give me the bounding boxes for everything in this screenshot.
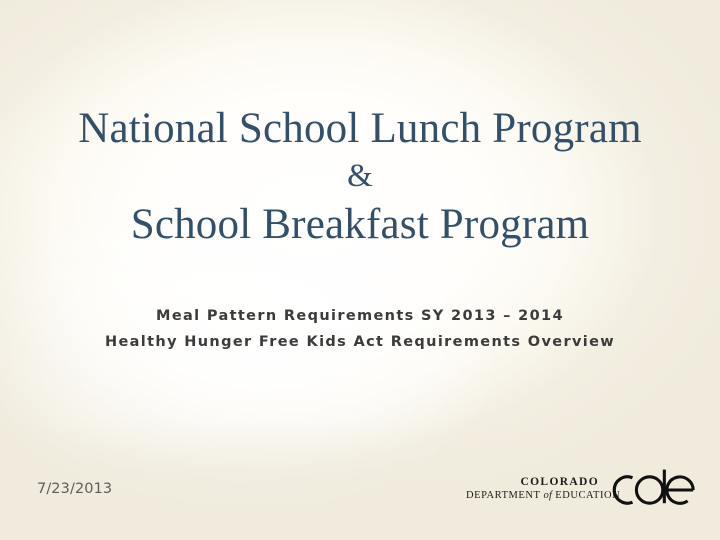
slide-content: National School Lunch Program & School B… bbox=[0, 0, 720, 540]
logo-department-prefix: DEPARTMENT bbox=[466, 490, 540, 501]
subtitle-line-2: Healthy Hunger Free Kids Act Requirement… bbox=[60, 329, 660, 355]
cde-monogram-icon bbox=[605, 468, 695, 512]
title-line-1: National School Lunch Program bbox=[0, 103, 720, 154]
slide-subtitle: Meal Pattern Requirements SY 2013 – 2014… bbox=[60, 303, 660, 355]
logo-department-label: DEPARTMENT of EDUCATION bbox=[466, 489, 599, 502]
slide-date: 7/23/2013 bbox=[37, 479, 112, 499]
title-line-2: School Breakfast Program bbox=[0, 199, 720, 250]
cde-logo-wordmark: COLORADO DEPARTMENT of EDUCATION bbox=[466, 476, 599, 504]
logo-state-label: COLORADO bbox=[466, 476, 599, 489]
presentation-slide: National School Lunch Program & School B… bbox=[0, 0, 720, 540]
title-ampersand: & bbox=[0, 154, 720, 199]
cde-logo: COLORADO DEPARTMENT of EDUCATION bbox=[466, 466, 694, 514]
subtitle-line-1: Meal Pattern Requirements SY 2013 – 2014 bbox=[60, 303, 660, 329]
logo-department-of: of bbox=[544, 490, 553, 501]
slide-title: National School Lunch Program & School B… bbox=[0, 103, 720, 250]
